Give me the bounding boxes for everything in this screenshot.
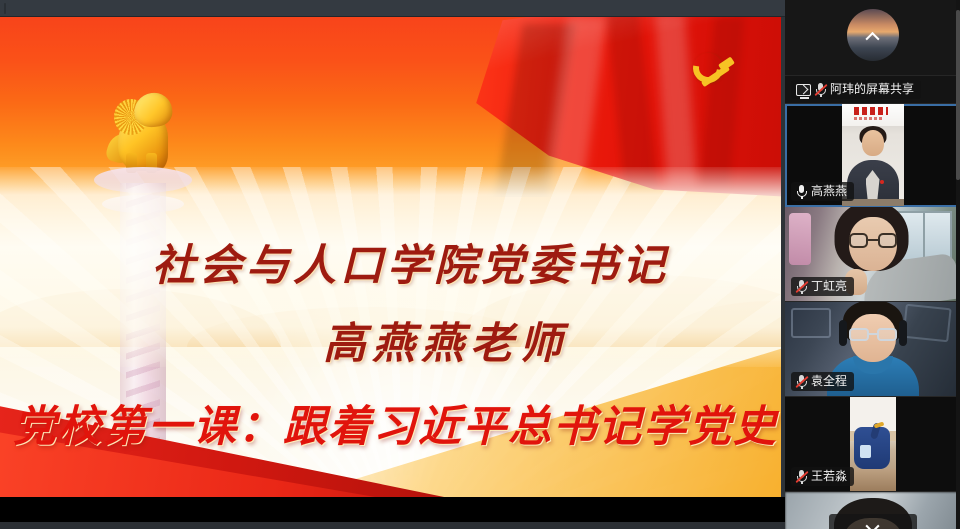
video-frame bbox=[850, 397, 896, 491]
filmstrip-scroll-up-tile[interactable] bbox=[785, 0, 960, 76]
presentation-slide: 社会与人口学院党委书记 高燕燕老师 党校第一课：跟着习近平总书记学党史 bbox=[0, 17, 781, 497]
background-object bbox=[902, 304, 951, 343]
shared-screen-bottom-bar bbox=[0, 497, 785, 529]
participant-filmstrip[interactable]: 阿玮的屏幕共享 高燕燕 bbox=[785, 0, 960, 529]
shared-screen-pane[interactable]: 社会与人口学院党委书记 高燕燕老师 党校第一课：跟着习近平总书记学党史 bbox=[0, 0, 785, 529]
mic-muted-icon bbox=[796, 470, 807, 484]
list-item-participant[interactable]: 丁虹亮 bbox=[785, 207, 960, 302]
participant-name-bar: 王若淼 bbox=[791, 467, 854, 486]
mic-muted-icon bbox=[815, 83, 826, 97]
list-item-participant[interactable]: 高燕燕 bbox=[785, 104, 960, 207]
participant-name-bar: 阿玮的屏幕共享 bbox=[791, 80, 921, 99]
scroll-up-button[interactable] bbox=[864, 29, 881, 46]
shared-screen-top-bar bbox=[0, 0, 785, 17]
slide-subtitle: 党校第一课：跟着习近平总书记学党史 bbox=[0, 392, 781, 454]
list-item-participant[interactable]: 王若淼 bbox=[785, 397, 960, 492]
slide-title-line-2: 高燕燕老师 bbox=[0, 309, 781, 371]
floor bbox=[850, 469, 896, 491]
meeting-window: 社会与人口学院党委书记 高燕燕老师 党校第一课：跟着习近平总书记学党史 阿玮的屏… bbox=[0, 0, 960, 529]
participant-name-bar: 高燕燕 bbox=[791, 182, 854, 201]
filmstrip-scrollbar[interactable] bbox=[956, 0, 960, 529]
headphone bbox=[839, 320, 847, 346]
mic-muted-icon bbox=[796, 280, 807, 294]
slide-title-line-1: 社会与人口学院党委书记 bbox=[0, 231, 781, 293]
background-object bbox=[789, 213, 811, 265]
list-item-screen-share[interactable]: 阿玮的屏幕共享 bbox=[785, 76, 960, 104]
participant-name: 丁虹亮 bbox=[811, 277, 847, 296]
participant-name: 阿玮的屏幕共享 bbox=[830, 80, 914, 99]
filmstrip-scrollbar-thumb[interactable] bbox=[956, 10, 960, 180]
chevron-up-icon bbox=[865, 32, 879, 46]
filmstrip-scroll-down-tile[interactable] bbox=[785, 492, 960, 529]
list-item-participant[interactable]: 袁全程 bbox=[785, 302, 960, 397]
hammer-and-sickle-icon bbox=[691, 51, 737, 93]
participant-name-bar: 袁全程 bbox=[791, 372, 854, 391]
mic-on-icon bbox=[796, 185, 807, 199]
scroll-down-button[interactable] bbox=[829, 514, 917, 529]
participant-name-bar: 丁虹亮 bbox=[791, 277, 854, 296]
chevron-down-icon bbox=[865, 519, 879, 529]
mic-muted-icon bbox=[796, 375, 807, 389]
participant-video bbox=[850, 397, 896, 491]
face bbox=[862, 130, 884, 156]
background-object bbox=[791, 308, 831, 338]
backpack-patch bbox=[860, 445, 871, 458]
participant-name: 袁全程 bbox=[811, 372, 847, 391]
participant-name: 高燕燕 bbox=[811, 182, 847, 201]
participant-name: 王若淼 bbox=[811, 467, 847, 486]
screen-share-icon bbox=[796, 84, 811, 96]
glasses bbox=[849, 233, 897, 248]
headphone bbox=[899, 320, 907, 346]
glasses bbox=[849, 328, 897, 341]
backdrop-banner bbox=[842, 104, 904, 126]
golden-lion-icon bbox=[112, 91, 174, 173]
